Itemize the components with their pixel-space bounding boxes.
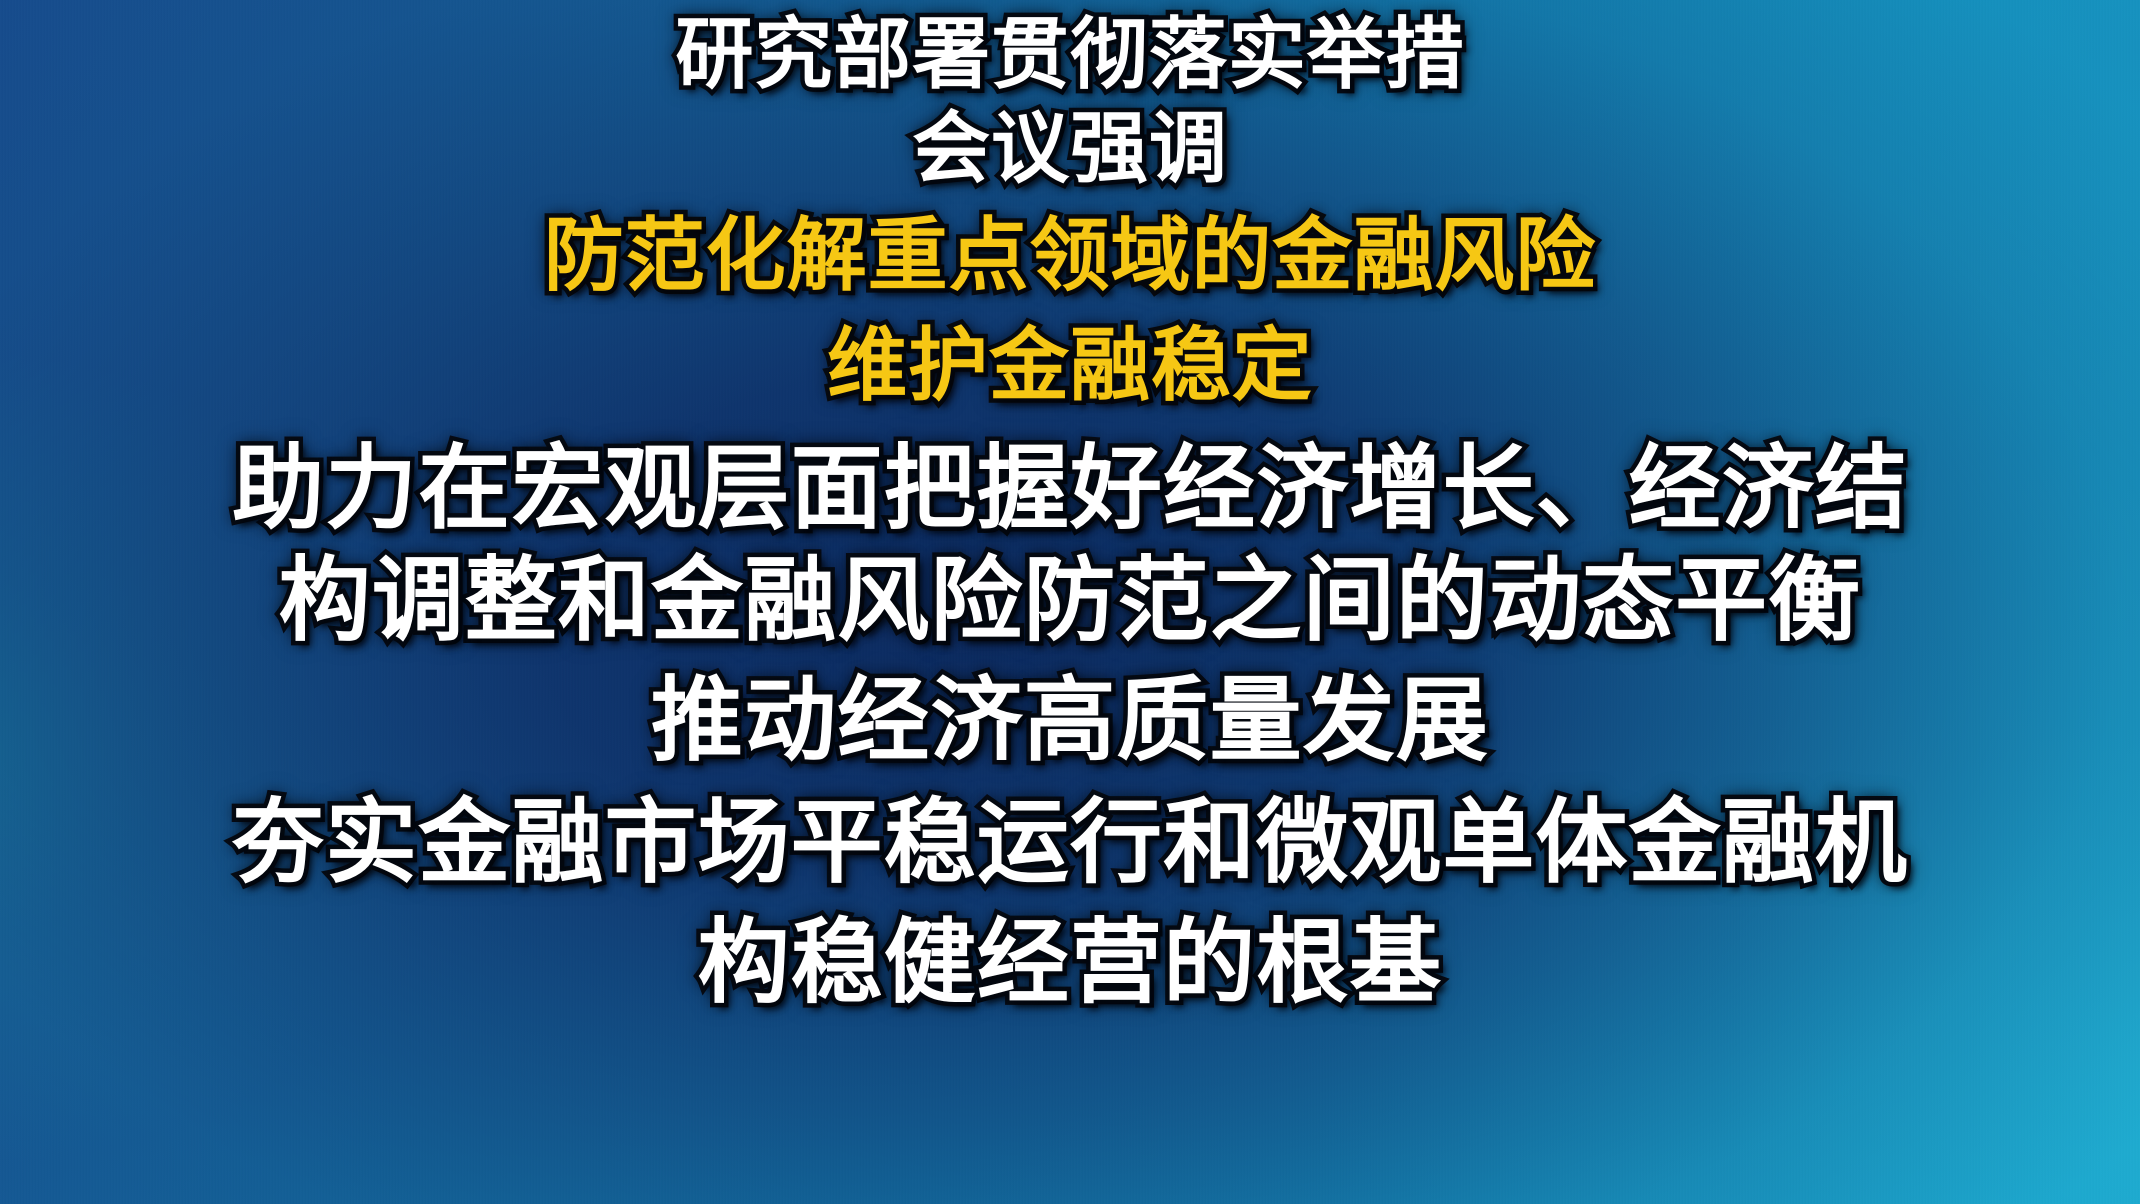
caption-line-9: 构稳健经营的根基 (0, 908, 2140, 1018)
caption-line-5: 助力在宏观层面把握好经济增长、经济结 (0, 434, 2140, 544)
caption-line-2: 会议强调 (0, 102, 2140, 194)
caption-line-8: 夯实金融市场平稳运行和微观单体金融机 (0, 788, 2140, 898)
caption-line-6: 构调整和金融风险防范之间的动态平衡 (0, 546, 2140, 656)
caption-line-4: 维护金融稳定 (0, 314, 2140, 418)
caption-line-7: 推动经济高质量发展 (0, 666, 2140, 776)
caption-line-1: 研究部署贯彻落实举措 (0, 8, 2140, 100)
caption-line-3: 防范化解重点领域的金融风险 (0, 204, 2140, 308)
caption-overlay-screen: 研究部署贯彻落实举措 会议强调 防范化解重点领域的金融风险 维护金融稳定 助力在… (0, 0, 2140, 1204)
caption-text-block: 研究部署贯彻落实举措 会议强调 防范化解重点领域的金融风险 维护金融稳定 助力在… (0, 0, 2140, 1204)
